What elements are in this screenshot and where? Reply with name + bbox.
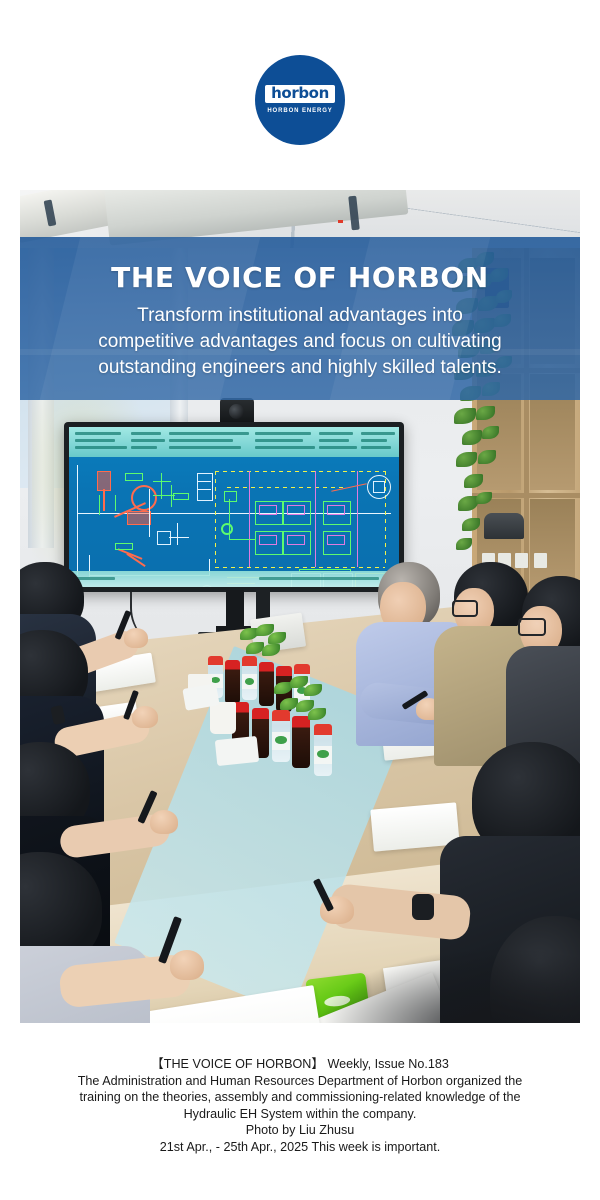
presentation-display: [64, 422, 404, 592]
caption-line-2: The Administration and Human Resources D…: [33, 1073, 567, 1090]
caption-line-5: Photo by Liu Zhusu: [33, 1122, 567, 1139]
banner-title: THE VOICE OF HORBON: [111, 261, 489, 295]
horbon-logo[interactable]: horbon HORBON ENERGY: [255, 55, 345, 145]
ac-indicator-led: [338, 220, 343, 223]
cad-statusbar: [69, 571, 399, 587]
paper-cup: [210, 702, 236, 734]
table-plant: [272, 682, 326, 752]
caption-line-3: training on the theories, assembly and c…: [33, 1089, 567, 1106]
caption-block: 【THE VOICE OF HORBON】 Weekly, Issue No.1…: [0, 1023, 600, 1200]
headline-banner: THE VOICE OF HORBON Transform institutio…: [20, 237, 580, 400]
hero-photo: THE VOICE OF HORBON Transform institutio…: [20, 190, 580, 1023]
cad-toolbar: [69, 427, 399, 457]
tissue-pack: [215, 736, 259, 766]
banner-subtitle-line-3: outstanding engineers and highly skilled…: [98, 355, 502, 381]
banner-subtitle-line-2: competitive advantages and focus on cult…: [98, 329, 502, 355]
shelf-card: [534, 553, 547, 568]
logo-subtitle: HORBON ENERGY: [267, 108, 332, 115]
caption-line-6: 21st Apr., - 25th Apr., 2025 This week i…: [33, 1139, 567, 1156]
caption-line-1: 【THE VOICE OF HORBON】 Weekly, Issue No.1…: [33, 1056, 567, 1073]
caption-line-4: Hydraulic EH System within the company.: [33, 1106, 567, 1123]
banner-subtitle-line-1: Transform institutional advantages into: [98, 303, 502, 329]
camera-lens-icon: [229, 404, 244, 419]
page-header: horbon HORBON ENERGY: [0, 0, 600, 190]
logo-wordmark: horbon: [265, 85, 335, 103]
foreground-shadow: [320, 950, 580, 1023]
banner-subtitle: Transform institutional advantages into …: [86, 303, 514, 381]
display-screen: [69, 427, 399, 587]
